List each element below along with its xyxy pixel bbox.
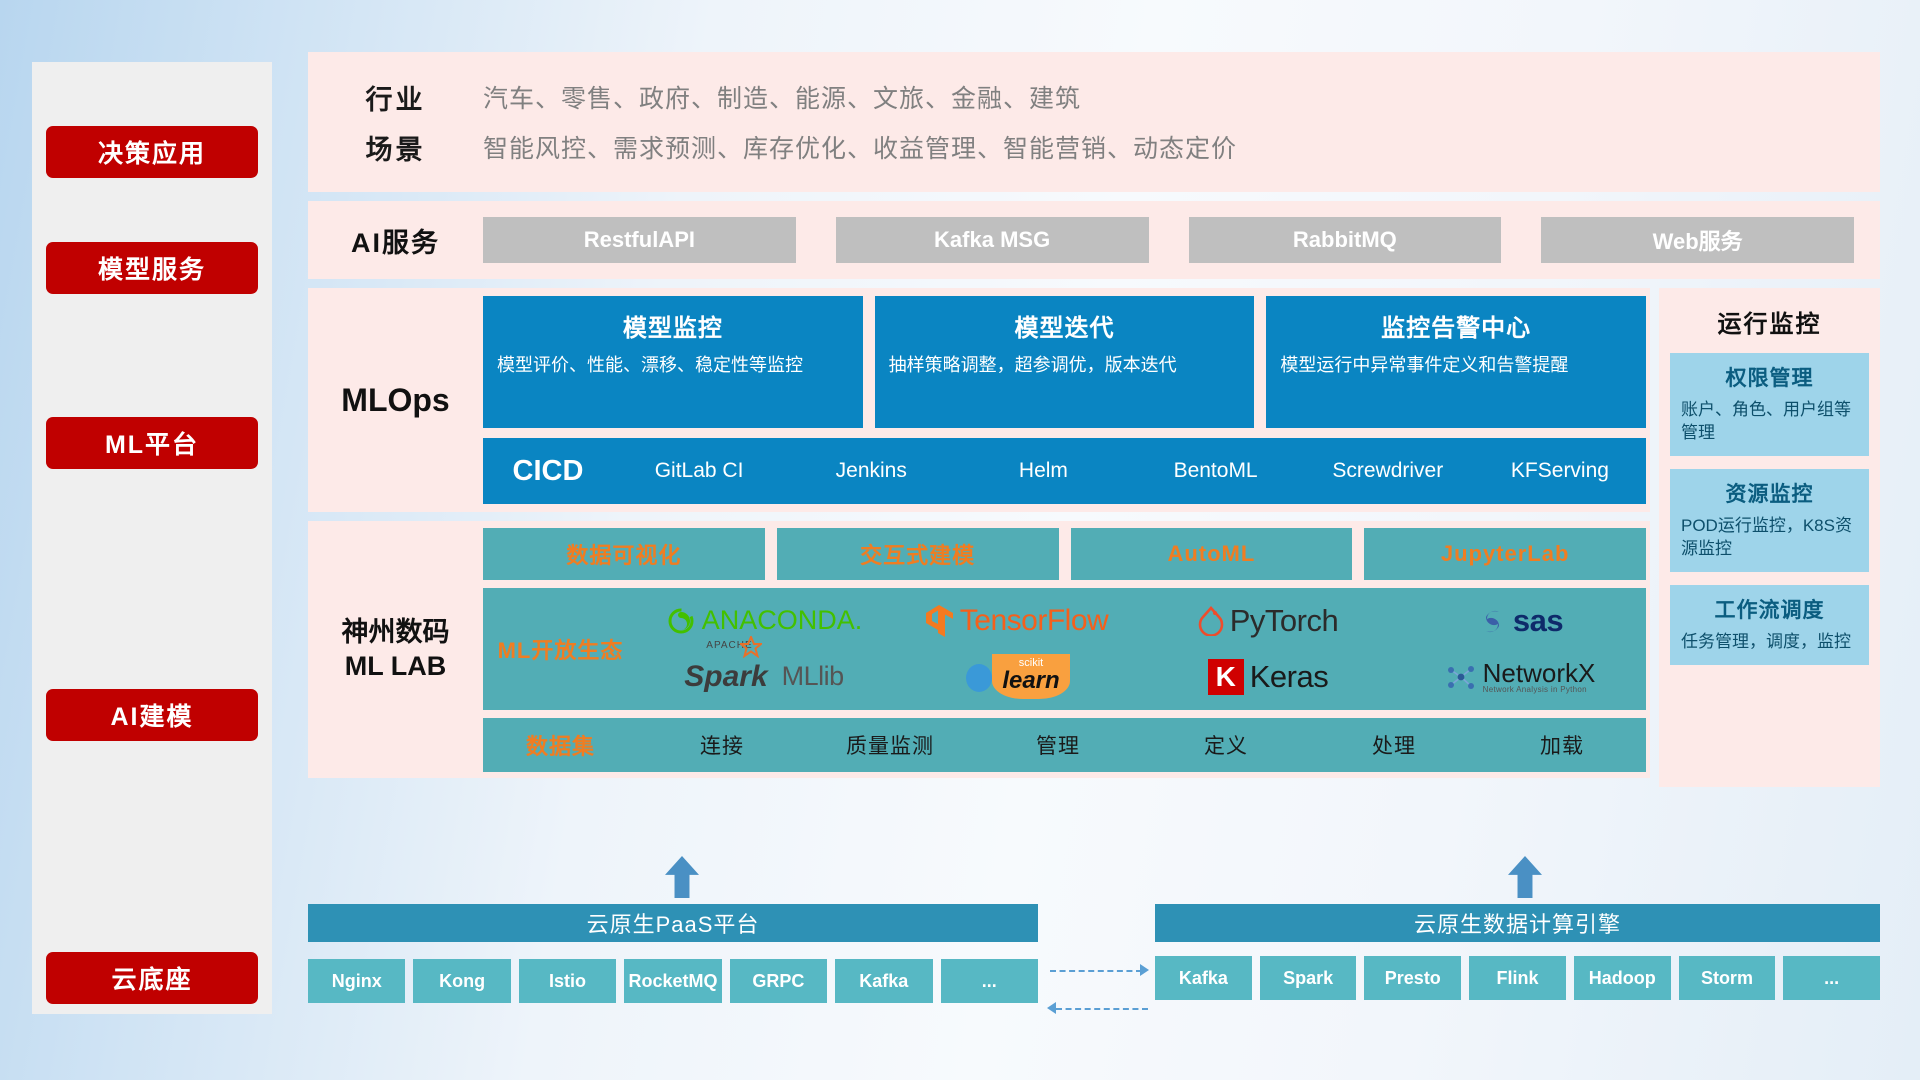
engine-chip-presto[interactable]: Presto xyxy=(1364,956,1461,1000)
paas-up-arrow-icon xyxy=(665,856,699,898)
ai-service-label: AI服务 xyxy=(308,221,483,260)
paas-chip-more[interactable]: ... xyxy=(941,959,1038,1003)
anaconda-logo: ANACONDA. xyxy=(638,593,890,649)
learn-word: learn xyxy=(1002,669,1059,693)
cicd-item-gitlab-ci[interactable]: GitLab CI xyxy=(613,460,785,482)
card-desc: 抽样策略调整，超参调优，版本迭代 xyxy=(889,353,1241,377)
keras-logo: K Keras xyxy=(1142,649,1394,705)
monitor-card-resource[interactable]: 资源监控 POD运行监控，K8S资源监控 xyxy=(1670,469,1869,572)
scikit-blue-blob-icon xyxy=(962,660,996,694)
tensorflow-logo: TensorFlow xyxy=(890,593,1142,649)
rail-item-model-service[interactable]: 模型服务 xyxy=(46,242,258,294)
architecture-diagram: 决策应用 模型服务 ML平台 AI建模 云底座 行业 汽车、零售、政府、制造、能… xyxy=(0,0,1920,1080)
sas-wordmark: sas xyxy=(1513,603,1563,639)
paas-chip-grpc[interactable]: GRPC xyxy=(730,959,827,1003)
tensorflow-mark-icon xyxy=(924,604,954,638)
card-title: 工作流调度 xyxy=(1681,594,1858,624)
networkx-logo: NetworkX Network Analysis in Python xyxy=(1394,649,1646,705)
cicd-item-helm[interactable]: Helm xyxy=(957,460,1129,482)
monitor-card-workflow[interactable]: 工作流调度 任务管理，调度，监控 xyxy=(1670,585,1869,665)
paas-chip-rocketmq[interactable]: RocketMQ xyxy=(624,959,721,1003)
ml-ecosystem-logo-grid: ANACONDA. TensorFlow xyxy=(638,593,1646,705)
industry-label: 行业 xyxy=(308,78,483,117)
paas-chip-kong[interactable]: Kong xyxy=(413,959,510,1003)
keras-mark-icon: K xyxy=(1208,659,1244,695)
spark-mllib-logo: APACHE Spark MLlib xyxy=(638,649,890,705)
card-desc: 任务管理，调度，监控 xyxy=(1681,631,1858,654)
engine-chip-storm[interactable]: Storm xyxy=(1679,956,1776,1000)
industry-values: 汽车、零售、政府、制造、能源、文旅、金融、建筑 xyxy=(483,79,1081,115)
cloud-base-section: 云原生PaaS平台 云原生数据计算引擎 Nginx Kong Istio Roc… xyxy=(308,856,1880,1046)
service-chip-restfulapi[interactable]: RestfulAPI xyxy=(483,217,796,263)
mid-section: MLOps 模型监控 模型评价、性能、漂移、稳定性等监控 模型迭代 抽样策略调整… xyxy=(308,288,1880,787)
dataset-item-process[interactable]: 处理 xyxy=(1310,730,1478,760)
ai-service-band: AI服务 RestfulAPI Kafka MSG RabbitMQ Web服务 xyxy=(308,201,1880,279)
engine-chip-spark[interactable]: Spark xyxy=(1260,956,1357,1000)
engine-chip-more[interactable]: ... xyxy=(1783,956,1880,1000)
engine-chip-row: Kafka Spark Presto Flink Hadoop Storm ..… xyxy=(1155,956,1880,1000)
dataset-label: 数据集 xyxy=(483,729,638,761)
rail-item-decision-app[interactable]: 决策应用 xyxy=(46,126,258,178)
engine-chip-flink[interactable]: Flink xyxy=(1469,956,1566,1000)
tab-jupyterlab[interactable]: JupyterLab xyxy=(1364,528,1646,580)
anaconda-wordmark: ANACONDA. xyxy=(702,605,863,636)
monitor-column: 运行监控 权限管理 账户、角色、用户组等管理 资源监控 POD运行监控，K8S资… xyxy=(1659,288,1880,787)
pytorch-logo: PyTorch xyxy=(1142,593,1394,649)
card-title: 监控告警中心 xyxy=(1280,308,1632,343)
rail-item-cloud-base[interactable]: 云底座 xyxy=(46,952,258,1004)
card-desc: 模型评价、性能、漂移、稳定性等监控 xyxy=(497,353,849,377)
main-stack: 行业 汽车、零售、政府、制造、能源、文旅、金融、建筑 场景 智能风控、需求预测、… xyxy=(308,52,1880,787)
card-title: 模型迭代 xyxy=(889,308,1241,343)
cicd-item-kfserving[interactable]: KFServing xyxy=(1474,460,1646,482)
card-title: 资源监控 xyxy=(1681,478,1858,508)
mlops-card-list: 模型监控 模型评价、性能、漂移、稳定性等监控 模型迭代 抽样策略调整，超参调优，… xyxy=(483,296,1646,428)
dashed-arrow-head-right xyxy=(1140,964,1149,976)
paas-chip-row: Nginx Kong Istio RocketMQ GRPC Kafka ... xyxy=(308,959,1038,1003)
cicd-item-screwdriver[interactable]: Screwdriver xyxy=(1302,460,1474,482)
dataset-item-load[interactable]: 加载 xyxy=(1478,730,1646,760)
ml-lab-label-line1: 神州数码 xyxy=(308,616,483,650)
scenario-label: 场景 xyxy=(308,128,483,167)
rail-item-ai-modeling[interactable]: AI建模 xyxy=(46,689,258,741)
networkx-graph-icon xyxy=(1445,662,1477,692)
engine-up-arrow-icon xyxy=(1508,856,1542,898)
monitor-card-permission[interactable]: 权限管理 账户、角色、用户组等管理 xyxy=(1670,353,1869,456)
ml-lab-label: 神州数码 ML LAB xyxy=(308,616,483,684)
tab-automl[interactable]: AutoML xyxy=(1071,528,1353,580)
paas-chip-kafka[interactable]: Kafka xyxy=(835,959,932,1003)
scenario-row: 场景 智能风控、需求预测、库存优化、收益管理、智能营销、动态定价 xyxy=(308,122,1880,172)
ml-ecosystem-label: ML开放生态 xyxy=(483,633,638,665)
paas-chip-istio[interactable]: Istio xyxy=(519,959,616,1003)
tab-data-visualization[interactable]: 数据可视化 xyxy=(483,528,765,580)
ml-lab-label-line2: ML LAB xyxy=(308,650,483,684)
cicd-label: CICD xyxy=(483,455,613,488)
service-chip-rabbitmq[interactable]: RabbitMQ xyxy=(1189,217,1502,263)
mlops-card-model-iteration[interactable]: 模型迭代 抽样策略调整，超参调优，版本迭代 xyxy=(875,296,1255,428)
mlops-content: 模型监控 模型评价、性能、漂移、稳定性等监控 模型迭代 抽样策略调整，超参调优，… xyxy=(483,296,1650,504)
industry-scenario-band: 行业 汽车、零售、政府、制造、能源、文旅、金融、建筑 场景 智能风控、需求预测、… xyxy=(308,52,1880,192)
paas-platform-bar[interactable]: 云原生PaaS平台 xyxy=(308,904,1038,942)
dataset-item-manage[interactable]: 管理 xyxy=(974,730,1142,760)
scikit-learn-logo: scikit learn xyxy=(890,649,1142,705)
mllib-wordmark: MLlib xyxy=(782,661,844,692)
cicd-item-jenkins[interactable]: Jenkins xyxy=(785,460,957,482)
mlops-band: MLOps 模型监控 模型评价、性能、漂移、稳定性等监控 模型迭代 抽样策略调整… xyxy=(308,288,1650,512)
mlops-card-model-monitor[interactable]: 模型监控 模型评价、性能、漂移、稳定性等监控 xyxy=(483,296,863,428)
spark-wordmark: Spark xyxy=(684,660,767,693)
monitor-column-title: 运行监控 xyxy=(1670,304,1869,339)
tensorflow-wordmark: TensorFlow xyxy=(960,604,1108,638)
cicd-bar: CICD GitLab CI Jenkins Helm BentoML Scre… xyxy=(483,438,1646,504)
card-desc: POD运行监控，K8S资源监控 xyxy=(1681,515,1858,561)
rail-item-ml-platform[interactable]: ML平台 xyxy=(46,417,258,469)
keras-wordmark: Keras xyxy=(1250,659,1328,695)
ml-lab-band: 神州数码 ML LAB 数据可视化 交互式建模 AutoML JupyterLa… xyxy=(308,521,1650,778)
card-desc: 模型运行中异常事件定义和告警提醒 xyxy=(1280,353,1632,377)
scenario-values: 智能风控、需求预测、库存优化、收益管理、智能营销、动态定价 xyxy=(483,129,1237,165)
dashed-connector-right xyxy=(1050,970,1142,972)
engine-chip-hadoop[interactable]: Hadoop xyxy=(1574,956,1671,1000)
dataset-item-connect[interactable]: 连接 xyxy=(638,730,806,760)
monitor-panel: 运行监控 权限管理 账户、角色、用户组等管理 资源监控 POD运行监控，K8S资… xyxy=(1659,288,1880,787)
dataset-item-define[interactable]: 定义 xyxy=(1142,730,1310,760)
dashed-arrow-head-left xyxy=(1047,1002,1056,1014)
ml-lab-tab-list: 数据可视化 交互式建模 AutoML JupyterLab xyxy=(483,528,1646,580)
tab-interactive-modeling[interactable]: 交互式建模 xyxy=(777,528,1059,580)
cicd-item-bentoml[interactable]: BentoML xyxy=(1130,460,1302,482)
sas-mark-icon xyxy=(1477,606,1507,636)
mid-left-column: MLOps 模型监控 模型评价、性能、漂移、稳定性等监控 模型迭代 抽样策略调整… xyxy=(308,288,1650,787)
pytorch-flame-icon xyxy=(1198,606,1224,636)
dataset-row: 数据集 连接 质量监测 管理 定义 处理 加载 xyxy=(483,718,1646,772)
ml-ecosystem-row: ML开放生态 ANACONDA. xyxy=(483,588,1646,710)
dashed-connector-left xyxy=(1056,1008,1148,1010)
paas-chip-nginx[interactable]: Nginx xyxy=(308,959,405,1003)
ml-lab-content: 数据可视化 交互式建模 AutoML JupyterLab ML开放生态 xyxy=(483,528,1650,772)
ai-service-chip-list: RestfulAPI Kafka MSG RabbitMQ Web服务 xyxy=(483,217,1880,263)
service-chip-web[interactable]: Web服务 xyxy=(1541,217,1854,263)
networkx-wordmark: NetworkX xyxy=(1483,660,1596,686)
engine-chip-kafka[interactable]: Kafka xyxy=(1155,956,1252,1000)
service-chip-kafka-msg[interactable]: Kafka MSG xyxy=(836,217,1149,263)
left-label-rail: 决策应用 模型服务 ML平台 AI建模 云底座 xyxy=(32,62,272,1014)
anaconda-mark-icon xyxy=(666,606,696,636)
spark-star-icon xyxy=(740,636,762,658)
networkx-tagline: Network Analysis in Python xyxy=(1483,686,1596,694)
card-title: 权限管理 xyxy=(1681,362,1858,392)
industry-row: 行业 汽车、零售、政府、制造、能源、文旅、金融、建筑 xyxy=(308,72,1880,122)
dataset-item-quality[interactable]: 质量监测 xyxy=(806,730,974,760)
data-engine-bar[interactable]: 云原生数据计算引擎 xyxy=(1155,904,1880,942)
mlops-card-alert-center[interactable]: 监控告警中心 模型运行中异常事件定义和告警提醒 xyxy=(1266,296,1646,428)
mlops-label: MLOps xyxy=(308,382,483,419)
pytorch-wordmark: PyTorch xyxy=(1230,603,1338,639)
card-desc: 账户、角色、用户组等管理 xyxy=(1681,399,1858,445)
sas-logo: sas xyxy=(1394,593,1646,649)
card-title: 模型监控 xyxy=(497,308,849,343)
